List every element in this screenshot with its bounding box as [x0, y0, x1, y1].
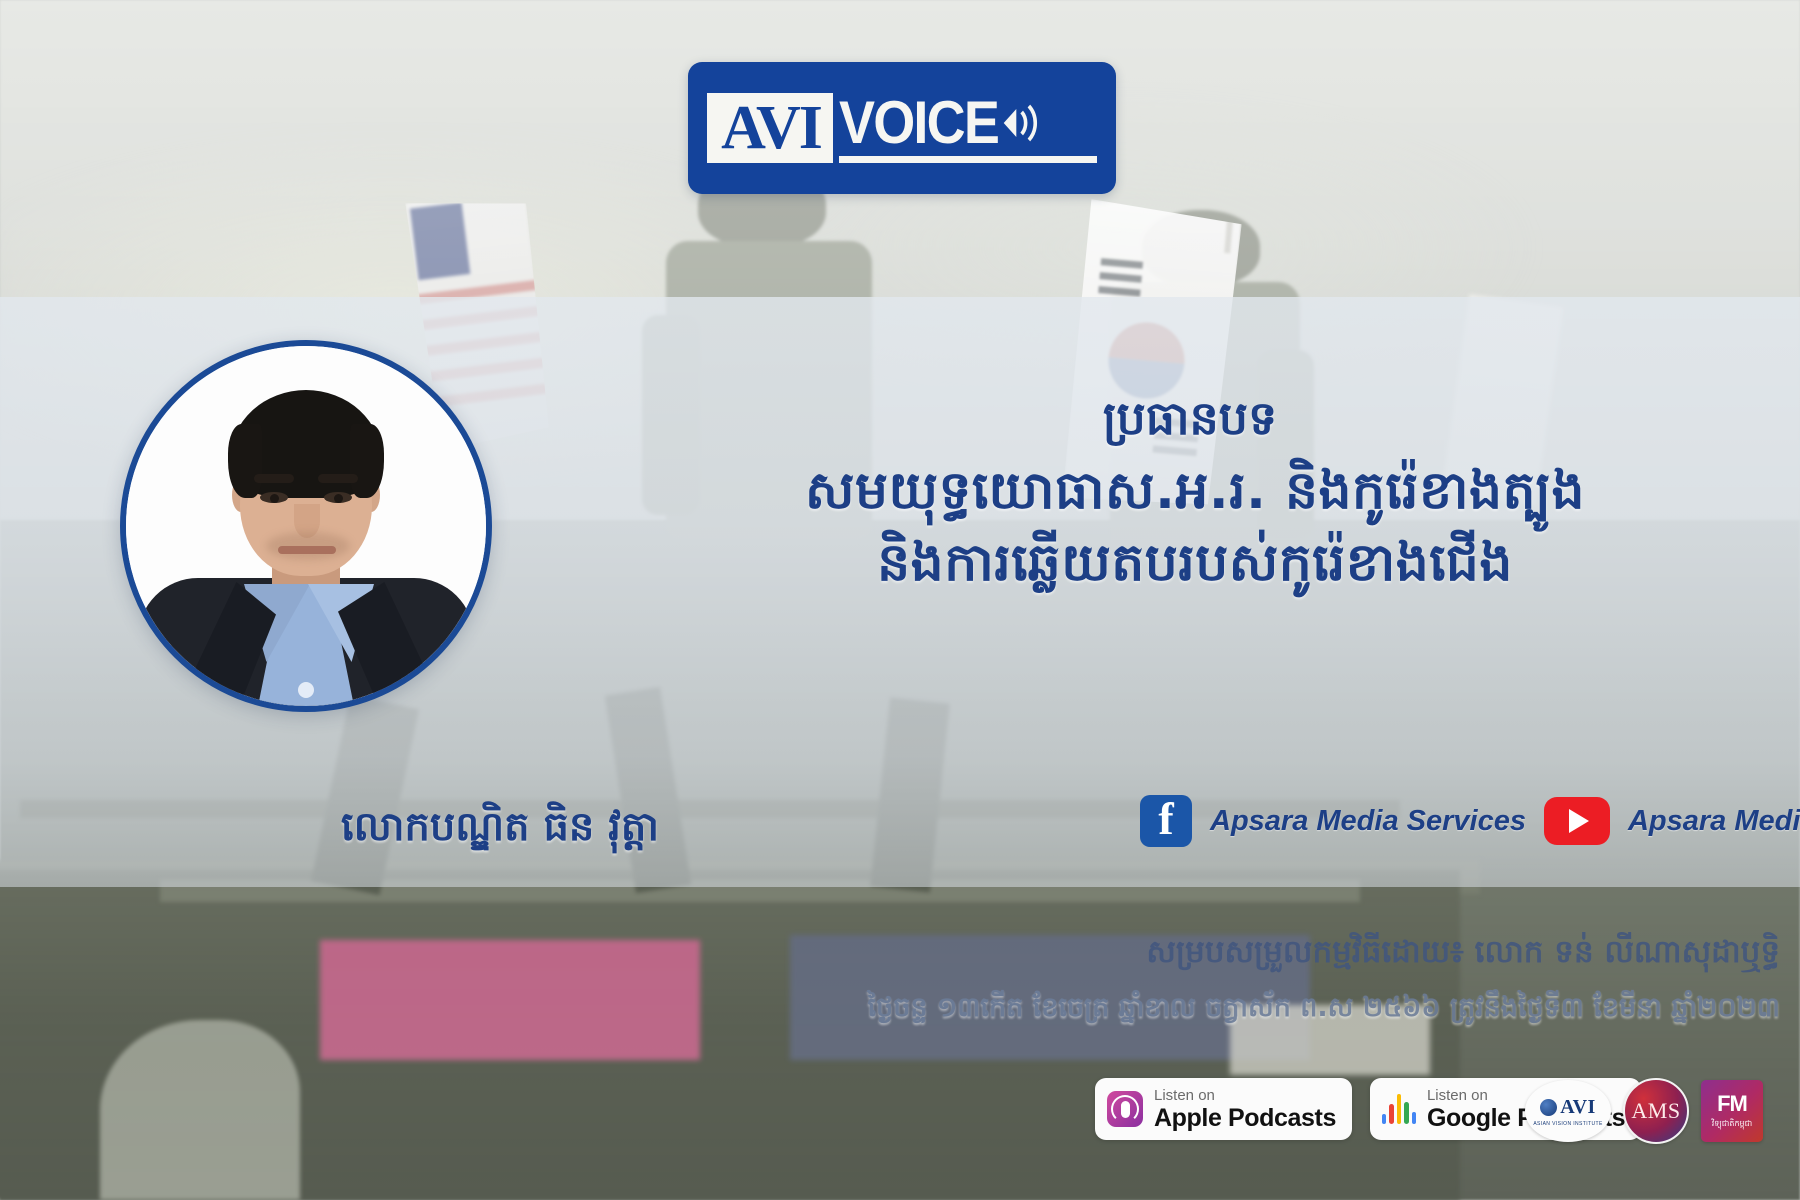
- speaker-name: លោកបណ្ឌិត ធិន វុត្តា: [180, 800, 820, 854]
- google-podcasts-icon: [1382, 1094, 1416, 1124]
- apple-badge-main-label: Apple Podcasts: [1154, 1106, 1336, 1131]
- ams-logo-text: AMS: [1631, 1098, 1680, 1124]
- ams-logo[interactable]: AMS: [1623, 1078, 1689, 1144]
- sound-wave-icon: [1001, 100, 1037, 146]
- topic-eyebrow: ប្រធានបទ: [760, 390, 1620, 446]
- logo-avi-text: AVI: [707, 93, 833, 163]
- program-credit: សម្របសម្រួលកម្មវិធីដោយ៖ លោក ទន់ លីណាសុដា…: [820, 930, 1780, 974]
- avi-logo[interactable]: AVI ASIAN VISION INSTITUTE: [1525, 1080, 1611, 1142]
- logo-voice-text: VOICE: [839, 93, 998, 153]
- social-row: f Apsara Media Services Apsara Media Ser…: [1140, 795, 1800, 847]
- headline-line-1: សមយុទ្ធយោធាស.អ.រ. និងកូរ៉េខាងត្បូង: [620, 455, 1770, 527]
- fm-logo-text: FM: [1717, 1093, 1747, 1115]
- avi-logo-text: AVI: [1560, 1096, 1596, 1119]
- poster-canvas: AVI VOICE: [0, 0, 1800, 1200]
- youtube-icon[interactable]: [1544, 797, 1610, 845]
- logo-underline: [839, 156, 1097, 163]
- facebook-label[interactable]: Apsara Media Services: [1210, 805, 1526, 838]
- globe-icon: [1540, 1099, 1557, 1116]
- apple-podcasts-icon: [1107, 1091, 1143, 1127]
- youtube-label[interactable]: Apsara Media Services: [1628, 805, 1800, 838]
- broadcast-date: ថ្ងៃចន្ទ ១៣កើត ខែចេត្រ ឆ្នាំខាល ចត្វាស័ក…: [700, 988, 1780, 1028]
- headline: សមយុទ្ធយោធាស.អ.រ. និងកូរ៉េខាងត្បូង និងកា…: [620, 455, 1770, 599]
- facebook-glyph: f: [1158, 796, 1173, 842]
- fm-logo-subtext: វិទ្យុជាតិកម្ពុជា: [1712, 1118, 1752, 1130]
- partner-logos: AVI ASIAN VISION INSTITUTE AMS FM វិទ្យុ…: [1525, 1078, 1763, 1144]
- speaker-portrait: [120, 340, 492, 712]
- avi-logo-subtext: ASIAN VISION INSTITUTE: [1533, 1121, 1602, 1127]
- avi-voice-logo[interactable]: AVI VOICE: [688, 62, 1116, 194]
- fm-logo[interactable]: FM វិទ្យុជាតិកម្ពុជា: [1701, 1080, 1763, 1142]
- apple-badge-top-label: Listen on: [1154, 1088, 1336, 1103]
- facebook-icon[interactable]: f: [1140, 795, 1192, 847]
- apple-podcasts-badge[interactable]: Listen on Apple Podcasts: [1095, 1078, 1352, 1140]
- headline-line-2: និងការឆ្លើយតបរបស់កូរ៉េខាងជើង: [620, 527, 1770, 599]
